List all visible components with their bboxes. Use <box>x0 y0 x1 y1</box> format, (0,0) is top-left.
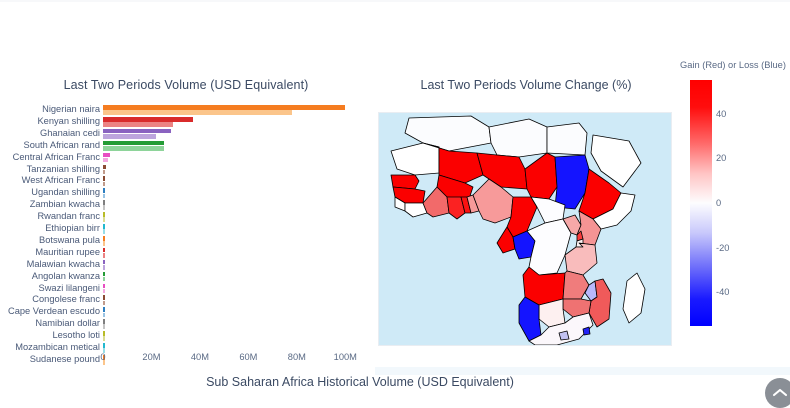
bar-segment[interactable] <box>103 182 105 187</box>
bar-chart-plot-area <box>103 104 355 342</box>
x-axis-tick-label: 20M <box>142 352 160 362</box>
bar-chart-row[interactable] <box>103 318 355 330</box>
bar-chart-row[interactable] <box>103 306 355 318</box>
bar-segment[interactable] <box>103 229 105 234</box>
bar-chart-label: Tanzanian shilling <box>27 164 100 176</box>
colorbar-tick-label: 0 <box>716 198 721 208</box>
bar-chart-row[interactable] <box>103 140 355 152</box>
bar-chart-label: South African rand <box>24 140 101 152</box>
bar-chart-label: Lesotho loti <box>52 330 100 342</box>
bar-segment[interactable] <box>103 307 105 312</box>
bar-segment[interactable] <box>103 129 171 134</box>
bar-segment[interactable] <box>103 105 345 110</box>
x-axis-tick-label: 80M <box>288 352 306 362</box>
bar-segment[interactable] <box>103 122 173 127</box>
bar-segment[interactable] <box>103 241 105 246</box>
bar-segment[interactable] <box>103 295 105 300</box>
bar-chart-row[interactable] <box>103 235 355 247</box>
bar-segment[interactable] <box>103 301 105 306</box>
bar-chart-label: Central African Franc <box>13 152 100 164</box>
bar-chart-row[interactable] <box>103 187 355 199</box>
x-axis-tick-label: 60M <box>239 352 257 362</box>
footer-caption: Sub Saharan Africa Historical Volume (US… <box>0 375 720 389</box>
bar-chart-label: Malawian kwacha <box>27 259 100 271</box>
map-colorbar-panel: Gain (Red) or Loss (Blue) 40200-20-40 <box>676 50 790 350</box>
bar-chart-x-axis: 020M40M60M80M100M <box>103 344 355 368</box>
colorbar-tick-label: -20 <box>716 243 729 253</box>
bar-segment[interactable] <box>103 272 105 277</box>
bar-segment[interactable] <box>103 224 105 229</box>
bar-chart-label: Swazi lilangeni <box>39 283 101 295</box>
bar-chart-row[interactable] <box>103 223 355 235</box>
bar-segment[interactable] <box>103 319 105 324</box>
scroll-to-top-button[interactable] <box>765 378 790 408</box>
bar-segment[interactable] <box>103 236 105 241</box>
bar-chart-row[interactable] <box>103 164 355 176</box>
bar-chart-row[interactable] <box>103 330 355 342</box>
bar-chart-category-labels: Nigerian nairaKenyan shillingGhanaian ce… <box>0 104 100 342</box>
bar-segment[interactable] <box>103 205 105 210</box>
x-axis-tick-label: 40M <box>191 352 209 362</box>
bar-chart-row[interactable] <box>103 104 355 116</box>
map-region[interactable]: Egypt: 0% <box>547 123 587 155</box>
bar-segment[interactable] <box>103 253 105 258</box>
bar-segment[interactable] <box>103 170 105 175</box>
bar-chart-row[interactable] <box>103 116 355 128</box>
bar-segment[interactable] <box>103 117 193 122</box>
bar-segment[interactable] <box>103 277 105 282</box>
bar-segment[interactable] <box>103 153 110 158</box>
bar-chart-row[interactable] <box>103 152 355 164</box>
bar-segment[interactable] <box>103 158 108 163</box>
bar-chart-row[interactable] <box>103 128 355 140</box>
volume-bar-chart-panel: Last Two Periods Volume (USD Equivalent)… <box>0 62 372 367</box>
bar-segment[interactable] <box>103 194 105 199</box>
bar-chart-label: Ethiopian birr <box>45 223 100 235</box>
bar-chart-title: Last Two Periods Volume (USD Equivalent) <box>0 78 372 92</box>
bar-segment[interactable] <box>103 134 156 139</box>
bar-chart-label: Rwandan franc <box>37 211 100 223</box>
volume-change-map-panel: Last Two Periods Volume Change (%) Alger… <box>376 62 676 367</box>
bar-chart-label: West African Franc <box>22 175 100 187</box>
bar-segment[interactable] <box>103 188 105 193</box>
bar-segment[interactable] <box>103 217 105 222</box>
bar-segment[interactable] <box>103 165 106 170</box>
bar-chart-label: Sudanese pound <box>30 354 100 366</box>
bar-segment[interactable] <box>103 265 105 270</box>
bar-chart-label: Ugandan shilling <box>31 187 100 199</box>
bar-chart-label: Nigerian naira <box>42 104 100 116</box>
colorbar-gradient <box>690 80 712 326</box>
chevron-up-icon <box>772 387 788 399</box>
colorbar-tick-label: 20 <box>716 153 726 163</box>
bar-chart-row[interactable] <box>103 283 355 295</box>
x-axis-tick-label: 0 <box>100 352 105 362</box>
bar-segment[interactable] <box>103 313 105 318</box>
bar-segment[interactable] <box>103 324 105 329</box>
top-hairline <box>0 0 790 2</box>
footer-band <box>375 367 790 375</box>
map-title: Last Two Periods Volume Change (%) <box>376 78 676 92</box>
bar-chart-row[interactable] <box>103 271 355 283</box>
bar-chart-row[interactable] <box>103 211 355 223</box>
map-region[interactable]: Lesotho: -10% <box>559 331 569 340</box>
bar-segment[interactable] <box>103 212 105 217</box>
bar-chart-label: Mauritian rupee <box>35 247 100 259</box>
bar-chart-row[interactable] <box>103 294 355 306</box>
colorbar-tick-label: 40 <box>716 109 726 119</box>
africa-choropleth-map[interactable]: Algeria: 0%Libya: 0%Egypt: 0%Saudi Arabi… <box>379 113 671 345</box>
bar-chart-label: Namibian dollar <box>35 318 100 330</box>
bar-chart-label: Cape Verdean escudo <box>8 306 100 318</box>
bar-chart-label: Mozambican metical <box>15 342 100 354</box>
bar-segment[interactable] <box>103 284 105 289</box>
colorbar-title: Gain (Red) or Loss (Blue) <box>680 60 790 70</box>
bar-chart-label: Botswana pula <box>39 235 100 247</box>
colorbar-tick-label: -40 <box>716 287 729 297</box>
bar-segment[interactable] <box>103 260 105 265</box>
bar-segment[interactable] <box>103 141 164 146</box>
bar-chart-label: Ghanaian cedi <box>40 128 100 140</box>
x-axis-tick-label: 100M <box>334 352 357 362</box>
bar-segment[interactable] <box>103 200 105 205</box>
bar-chart-row[interactable] <box>103 199 355 211</box>
bar-segment[interactable] <box>103 289 105 294</box>
bar-chart-label: Congolese franc <box>32 294 100 306</box>
bar-segment[interactable] <box>103 176 105 181</box>
bar-chart-label: Angolan kwanza <box>32 271 100 283</box>
bar-segment[interactable] <box>103 331 105 336</box>
bar-segment[interactable] <box>103 110 292 115</box>
bar-segment[interactable] <box>103 146 164 151</box>
bar-chart-row[interactable] <box>103 247 355 259</box>
bar-chart-row[interactable] <box>103 259 355 271</box>
bar-chart-label: Kenyan shilling <box>37 116 100 128</box>
bar-segment[interactable] <box>103 336 105 341</box>
map-frame[interactable]: Algeria: 0%Libya: 0%Egypt: 0%Saudi Arabi… <box>378 112 672 346</box>
bar-chart-label: Zambian kwacha <box>30 199 100 211</box>
bar-segment[interactable] <box>103 248 105 253</box>
bar-chart-row[interactable] <box>103 175 355 187</box>
